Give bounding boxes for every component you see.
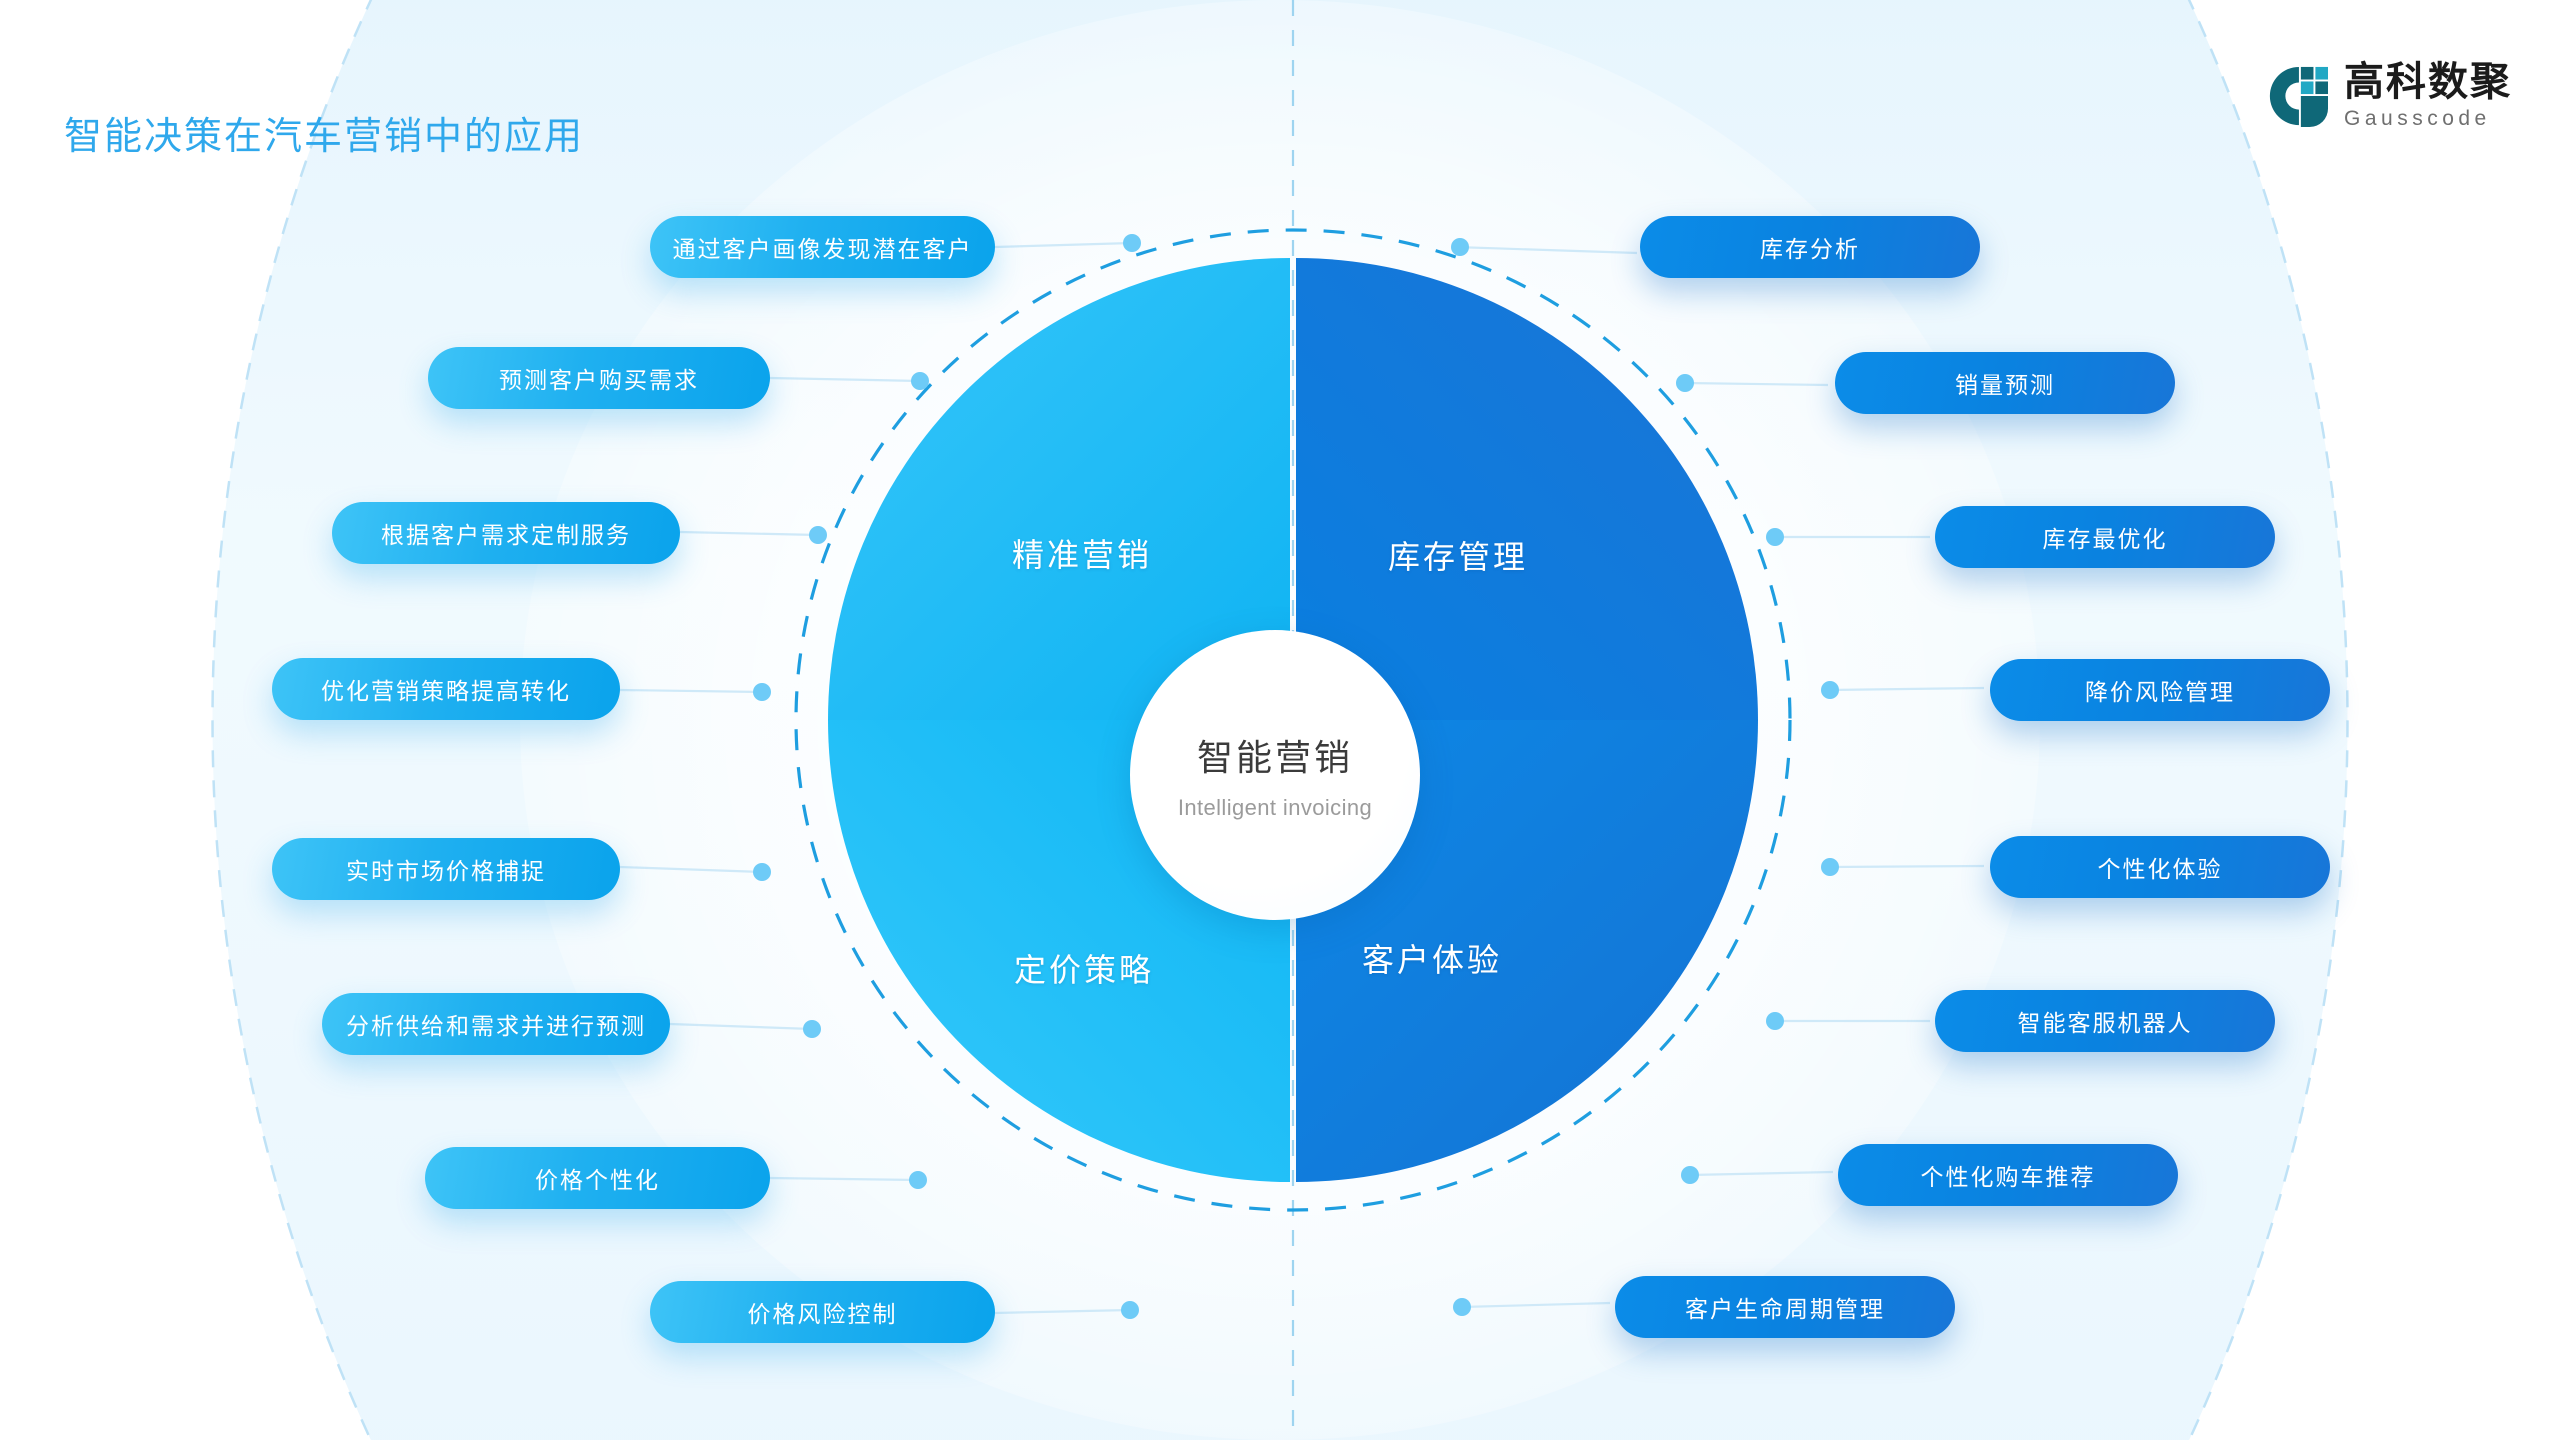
quadrant-label-pricing-strategy: 定价策略	[1014, 945, 1154, 991]
hub-subtitle: Intelligent invoicing	[1178, 795, 1372, 821]
left-item-4[interactable]: 实时市场价格捕捉	[272, 838, 620, 900]
hub-title: 智能营销	[1197, 729, 1353, 781]
right-item-1[interactable]: 销量预测	[1835, 352, 2175, 414]
page-title: 智能决策在汽车营销中的应用	[64, 105, 584, 160]
logo-name-en: Gausscode	[2344, 108, 2512, 129]
right-item-0[interactable]: 库存分析	[1640, 216, 1980, 278]
right-item-4[interactable]: 个性化体验	[1990, 836, 2330, 898]
left-item-1[interactable]: 预测客户购买需求	[428, 347, 770, 409]
left-item-7[interactable]: 价格风险控制	[650, 1281, 995, 1343]
diagram-canvas: 智能决策在汽车营销中的应用 高科数聚 Gausscode 精准营销 库存管理 定…	[0, 0, 2560, 1440]
right-item-5[interactable]: 智能客服机器人	[1935, 990, 2275, 1052]
quadrant-label-inventory-management: 库存管理	[1388, 532, 1528, 578]
left-item-0[interactable]: 通过客户画像发现潜在客户	[650, 216, 995, 278]
center-hub: 智能营销 Intelligent invoicing	[1130, 630, 1420, 920]
right-item-3[interactable]: 降价风险管理	[1990, 659, 2330, 721]
right-item-2[interactable]: 库存最优化	[1935, 506, 2275, 568]
left-item-2[interactable]: 根据客户需求定制服务	[332, 502, 680, 564]
left-item-6[interactable]: 价格个性化	[425, 1147, 770, 1209]
left-item-5[interactable]: 分析供给和需求并进行预测	[322, 993, 670, 1055]
logo-name-cn: 高科数聚	[2344, 62, 2512, 102]
brand-logo: 高科数聚 Gausscode	[2266, 62, 2512, 129]
quadrant-label-precision-marketing: 精准营销	[1012, 530, 1152, 576]
right-item-6[interactable]: 个性化购车推荐	[1838, 1144, 2178, 1206]
gausscode-g-mark	[2266, 65, 2328, 127]
left-item-3[interactable]: 优化营销策略提高转化	[272, 658, 620, 720]
quadrant-label-customer-experience: 客户体验	[1362, 935, 1502, 981]
right-item-7[interactable]: 客户生命周期管理	[1615, 1276, 1955, 1338]
